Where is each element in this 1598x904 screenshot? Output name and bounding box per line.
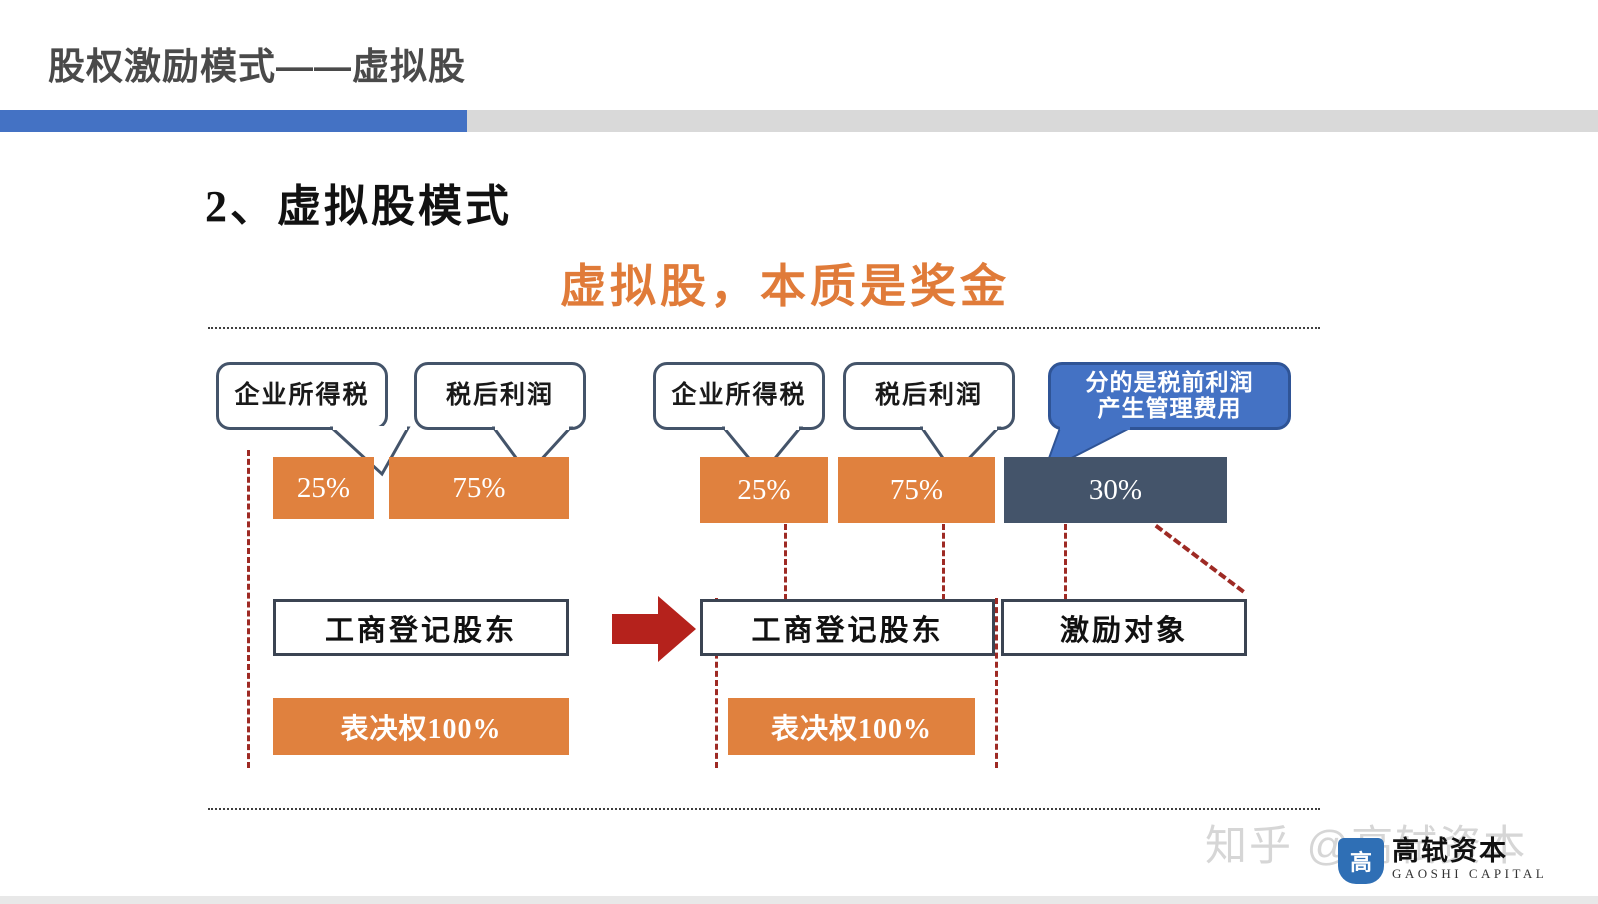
vote-bar-right: 表决权100% xyxy=(728,698,975,755)
connector-right-right-spine xyxy=(995,598,998,768)
tagline: 虚拟股，本质是奖金 xyxy=(560,250,1010,316)
transition-arrow-icon xyxy=(612,596,696,662)
header-rule-accent xyxy=(0,110,467,132)
entity-box-right-registered-shareholder: 工商登记股东 xyxy=(700,599,995,656)
bar-label: 75% xyxy=(890,474,943,507)
bar-label: 25% xyxy=(297,472,350,505)
connector-right-75-to-shareholder xyxy=(942,524,945,600)
callout-label: 税后利润 xyxy=(875,382,983,410)
connector-right-25-to-shareholder xyxy=(784,524,787,600)
vote-bar-label: 表决权100% xyxy=(340,707,501,747)
entity-label: 激励对象 xyxy=(1060,607,1188,649)
bar-right-30: 30% xyxy=(1004,457,1227,523)
diagram-top-divider xyxy=(208,327,1320,329)
bar-right-25: 25% xyxy=(700,457,828,523)
vote-bar-label: 表决权100% xyxy=(771,707,932,747)
callout-right-pretax-profit-note: 分的是税前利润 产生管理费用 xyxy=(1048,362,1291,430)
bar-label: 75% xyxy=(452,472,505,505)
bar-left-75: 75% xyxy=(389,457,569,519)
brand-name-cn: 高轼资本 xyxy=(1392,838,1547,865)
callout-label-line2: 产生管理费用 xyxy=(1098,396,1242,422)
page-title: 股权激励模式——虚拟股 xyxy=(48,36,466,90)
callout-label-line1: 分的是税前利润 xyxy=(1086,370,1254,396)
entity-box-left-registered-shareholder: 工商登记股东 xyxy=(273,599,569,656)
brand-logo: 高 高轼资本 GAOSHI CAPITAL xyxy=(1338,838,1547,884)
callout-label: 企业所得税 xyxy=(234,382,369,410)
callout-left-after-tax-profit: 税后利润 xyxy=(414,362,586,430)
brand-name-en: GAOSHI CAPITAL xyxy=(1392,865,1547,883)
bar-label: 30% xyxy=(1089,474,1142,507)
vote-bar-left: 表决权100% xyxy=(273,698,569,755)
diagram-bottom-divider xyxy=(208,808,1320,810)
callout-left-corporate-income-tax: 企业所得税 xyxy=(216,362,388,430)
callout-right-corporate-income-tax: 企业所得税 xyxy=(653,362,825,430)
callout-label: 企业所得税 xyxy=(671,382,806,410)
entity-label: 工商登记股东 xyxy=(751,607,943,649)
connector-left-spine xyxy=(247,450,250,768)
connector-right-30-diagonal xyxy=(1155,524,1245,593)
entity-label: 工商登记股东 xyxy=(325,607,517,649)
bar-right-75: 75% xyxy=(838,457,995,523)
bar-left-25: 25% xyxy=(273,457,374,519)
entity-box-right-incentive-target: 激励对象 xyxy=(1001,599,1247,656)
callout-right-after-tax-profit: 税后利润 xyxy=(843,362,1015,430)
callout-label: 税后利润 xyxy=(446,382,554,410)
section-heading: 2、虚拟股模式 xyxy=(205,170,512,234)
connector-right-30-to-incentive xyxy=(1064,524,1067,600)
slide-bottom-edge xyxy=(0,896,1598,904)
brand-mark-icon: 高 xyxy=(1338,838,1384,884)
bar-label: 25% xyxy=(737,474,790,507)
